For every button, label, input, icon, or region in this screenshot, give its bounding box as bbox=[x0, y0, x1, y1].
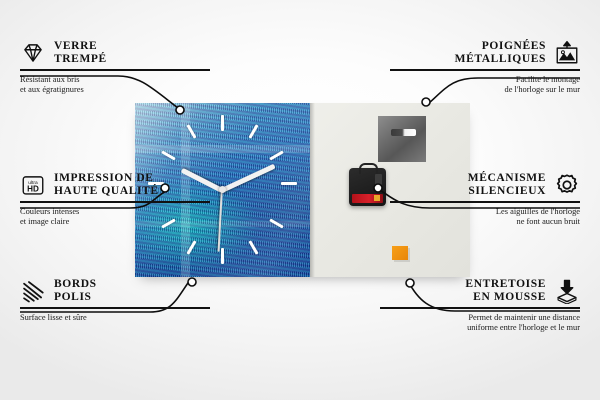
callout-subtitle-line1: Résistant aux bris bbox=[20, 75, 210, 86]
feature-infographic: VERRE TREMPÉ Résistant aux bris et aux é… bbox=[0, 0, 600, 400]
callout-divider bbox=[20, 307, 210, 309]
callout-header: MÉCANISME SILENCIEUX bbox=[390, 172, 580, 198]
hatch-lines-icon bbox=[20, 278, 46, 304]
callout-subtitle-line1: Permet de maintenir une distance bbox=[380, 313, 580, 324]
callout-subtitle-line2: ne font aucun bruit bbox=[390, 217, 580, 228]
callout-subtitle-line2: et aux égratignures bbox=[20, 85, 210, 96]
callout-divider bbox=[390, 201, 580, 203]
hour-tick-4 bbox=[269, 218, 283, 228]
hour-tick-5 bbox=[248, 240, 258, 254]
foam-spacer-pad bbox=[392, 246, 408, 260]
metal-hanger-plate bbox=[378, 116, 426, 162]
svg-text:HD: HD bbox=[27, 185, 39, 194]
callout-header: VERRE TREMPÉ bbox=[20, 40, 210, 66]
hanger-loop bbox=[359, 163, 378, 174]
callout-divider bbox=[20, 201, 210, 203]
gear-icon bbox=[554, 172, 580, 198]
hour-tick-10 bbox=[161, 150, 175, 160]
callout-bords-polis[interactable]: BORDS POLIS Surface lisse et sûre bbox=[20, 278, 210, 323]
callout-subtitle-line2: et image claire bbox=[20, 217, 210, 228]
callout-title: VERRE TREMPÉ bbox=[54, 40, 107, 66]
foam-spacer-icon bbox=[554, 278, 580, 304]
callout-subtitle-line2: de l'horloge sur le mur bbox=[390, 85, 580, 96]
diamond-icon bbox=[20, 40, 46, 66]
callout-subtitle-line1: Surface lisse et sûre bbox=[20, 313, 210, 324]
callout-subtitle-line1: Les aiguilles de l'horloge bbox=[390, 207, 580, 218]
ultra-hd-icon: ultra HD bbox=[20, 172, 46, 198]
hour-tick-2 bbox=[269, 150, 283, 160]
hour-tick-12 bbox=[221, 115, 224, 131]
minute-hand bbox=[221, 164, 276, 193]
callout-subtitle-line2: uniforme entre l'horloge et le mur bbox=[380, 323, 580, 334]
framed-picture-icon bbox=[554, 40, 580, 66]
battery-terminal bbox=[374, 195, 380, 201]
callout-header: ENTRETOISE EN MOUSSE bbox=[380, 278, 580, 304]
callout-divider bbox=[380, 307, 580, 309]
callout-title: IMPRESSION DE HAUTE QUALITÉ bbox=[54, 172, 159, 198]
second-hand bbox=[218, 190, 223, 252]
clock-center-hub bbox=[219, 186, 226, 193]
callout-title: MÉCANISME SILENCIEUX bbox=[468, 172, 546, 198]
battery bbox=[352, 194, 383, 203]
hour-tick-6 bbox=[221, 248, 224, 264]
callout-subtitle-line1: Couleurs intenses bbox=[20, 207, 210, 218]
callout-title: ENTRETOISE EN MOUSSE bbox=[465, 278, 546, 304]
callout-title: BORDS POLIS bbox=[54, 278, 97, 304]
hanger-slot bbox=[391, 129, 416, 136]
hour-tick-11 bbox=[186, 124, 196, 138]
callout-mecanisme-silencieux[interactable]: MÉCANISME SILENCIEUX Les aiguilles de l'… bbox=[390, 172, 580, 228]
callout-impression-haute-qualite[interactable]: ultra HD IMPRESSION DE HAUTE QUALITÉ Cou… bbox=[20, 172, 210, 228]
callout-subtitle-line1: Facilite le montage bbox=[390, 75, 580, 86]
callout-entretoise-en-mousse[interactable]: ENTRETOISE EN MOUSSE Permet de maintenir… bbox=[380, 278, 580, 334]
hour-tick-3 bbox=[281, 182, 297, 185]
hour-tick-7 bbox=[186, 240, 196, 254]
callout-title: POIGNÉES MÉTALLIQUES bbox=[455, 40, 546, 66]
callout-header: POIGNÉES MÉTALLIQUES bbox=[390, 40, 580, 66]
callout-verre-trempe[interactable]: VERRE TREMPÉ Résistant aux bris et aux é… bbox=[20, 40, 210, 96]
panel-edge-shadow bbox=[310, 103, 315, 277]
callout-header: ultra HD IMPRESSION DE HAUTE QUALITÉ bbox=[20, 172, 210, 198]
quartz-movement-box bbox=[349, 168, 386, 206]
callout-divider bbox=[390, 69, 580, 71]
movement-knob bbox=[375, 174, 382, 185]
callout-poignees-metalliques[interactable]: POIGNÉES MÉTALLIQUES Facilite le montage… bbox=[390, 40, 580, 96]
hour-tick-1 bbox=[248, 124, 258, 138]
callout-divider bbox=[20, 69, 210, 71]
callout-header: BORDS POLIS bbox=[20, 278, 210, 304]
